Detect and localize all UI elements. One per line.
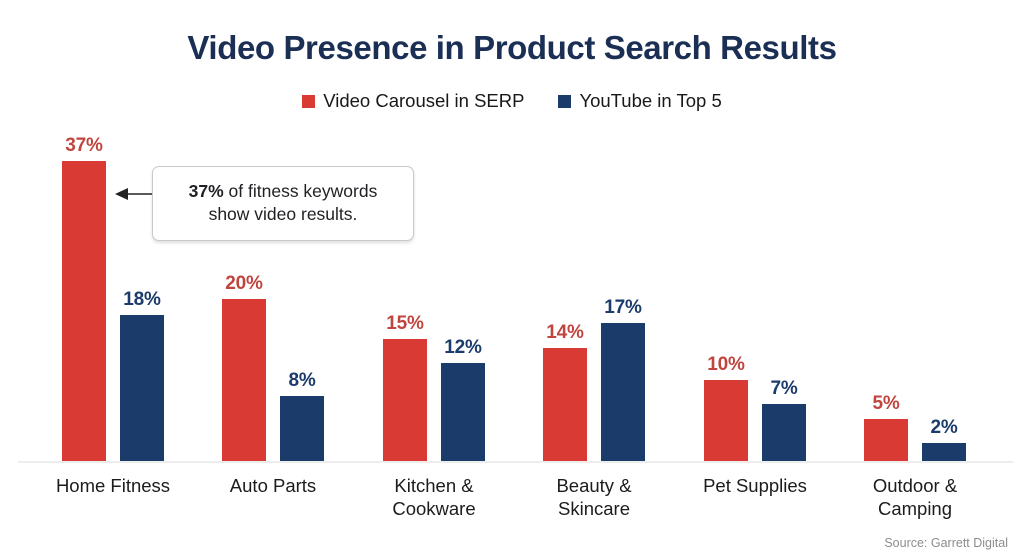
- category-label-line1: Beauty &: [500, 474, 688, 497]
- category-label-line1: Auto Parts: [179, 474, 367, 497]
- plot-area: 37% 18% Home Fitness 20% 8% Auto Parts: [0, 0, 1024, 559]
- bar-value-pet-supplies-navy: 7%: [752, 378, 816, 400]
- bar-group-bars: 5% 2%: [864, 0, 1010, 461]
- bar-value-outdoor-camping-navy: 2%: [912, 417, 976, 439]
- bar-group-bars: 10% 7%: [704, 0, 850, 461]
- bar-value-outdoor-camping-red: 5%: [854, 393, 918, 415]
- bar-beauty-skincare-youtube-top5[interactable]: [601, 323, 645, 461]
- bar-pet-supplies-youtube-top5[interactable]: [762, 404, 806, 461]
- source-attribution: Source: Garrett Digital: [884, 536, 1008, 550]
- bar-kitchen-cookware-youtube-top5[interactable]: [441, 363, 485, 461]
- category-label-outdoor-camping: Outdoor & Camping: [821, 474, 1009, 520]
- bar-value-home-fitness-navy: 18%: [110, 289, 174, 311]
- bar-value-beauty-skincare-navy: 17%: [591, 297, 655, 319]
- bar-value-kitchen-cookware-navy: 12%: [431, 337, 495, 359]
- bar-kitchen-cookware-video-carousel[interactable]: [383, 339, 427, 461]
- category-label-line2: Camping: [821, 497, 1009, 520]
- category-label-auto-parts: Auto Parts: [179, 474, 367, 497]
- category-label-beauty-skincare: Beauty & Skincare: [500, 474, 688, 520]
- bar-value-home-fitness-red: 37%: [52, 135, 116, 157]
- bar-home-fitness-youtube-top5[interactable]: [120, 315, 164, 461]
- bar-value-kitchen-cookware-red: 15%: [373, 313, 437, 335]
- bar-home-fitness-video-carousel[interactable]: [62, 161, 106, 461]
- bar-pet-supplies-video-carousel[interactable]: [704, 380, 748, 461]
- bar-beauty-skincare-video-carousel[interactable]: [543, 348, 587, 461]
- bar-outdoor-camping-youtube-top5[interactable]: [922, 443, 966, 461]
- bar-group-outdoor-camping: 5% 2% Outdoor & Camping: [864, 0, 1010, 559]
- callout-highlight-value: 37%: [189, 181, 224, 201]
- callout-arrow-icon: [115, 186, 155, 202]
- bar-value-auto-parts-navy: 8%: [270, 370, 334, 392]
- callout-text: of fitness keywords show video results.: [209, 181, 378, 224]
- bar-auto-parts-video-carousel[interactable]: [222, 299, 266, 461]
- bar-value-auto-parts-red: 20%: [212, 273, 276, 295]
- chart-container: Video Presence in Product Search Results…: [0, 0, 1024, 559]
- category-label-line2: Skincare: [500, 497, 688, 520]
- callout-annotation: 37% of fitness keywords show video resul…: [152, 166, 414, 241]
- bar-group-bars: 14% 17%: [543, 0, 689, 461]
- bar-auto-parts-youtube-top5[interactable]: [280, 396, 324, 461]
- bar-value-beauty-skincare-red: 14%: [533, 322, 597, 344]
- bar-outdoor-camping-video-carousel[interactable]: [864, 419, 908, 461]
- bar-value-pet-supplies-red: 10%: [694, 354, 758, 376]
- category-label-line1: Outdoor &: [821, 474, 1009, 497]
